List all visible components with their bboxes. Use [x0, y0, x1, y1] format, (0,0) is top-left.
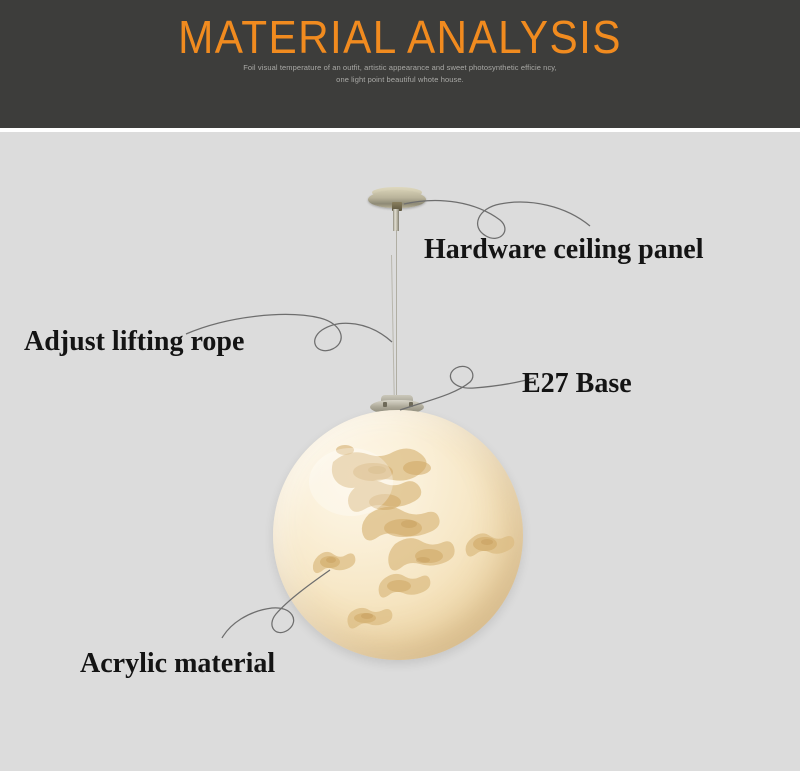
callout-label-e27-base: E27 Base: [522, 370, 632, 398]
header-subtitle-line-1: Foil visual temperature of an outfit, ar…: [0, 62, 800, 74]
header-banner: MATERIAL ANALYSIS Foil visual temperatur…: [0, 0, 800, 128]
callout-label-acrylic-material: Acrylic material: [80, 650, 275, 678]
product-stage: Hardware ceiling panel Adjust lifting ro…: [0, 132, 800, 771]
callout-label-hardware-ceiling-panel: Hardware ceiling panel: [424, 236, 703, 264]
header-subtitle-line-2: one light point beautiful whote house.: [0, 74, 800, 86]
leader-line-hardware: [404, 201, 590, 239]
suspension-rod: [393, 209, 399, 231]
acrylic-moon-globe: [273, 410, 523, 660]
e27-screw-right: [409, 402, 413, 407]
page-title: MATERIAL ANALYSIS: [32, 12, 768, 62]
lifting-cord-primary: [396, 230, 398, 404]
product-image-area: Hardware ceiling panel Adjust lifting ro…: [0, 132, 800, 771]
callout-label-adjust-lifting-rope: Adjust lifting rope: [24, 328, 244, 356]
moon-crater-texture: [273, 410, 523, 660]
e27-screw-left: [383, 402, 387, 407]
infographic-page: MATERIAL ANALYSIS Foil visual temperatur…: [0, 0, 800, 771]
